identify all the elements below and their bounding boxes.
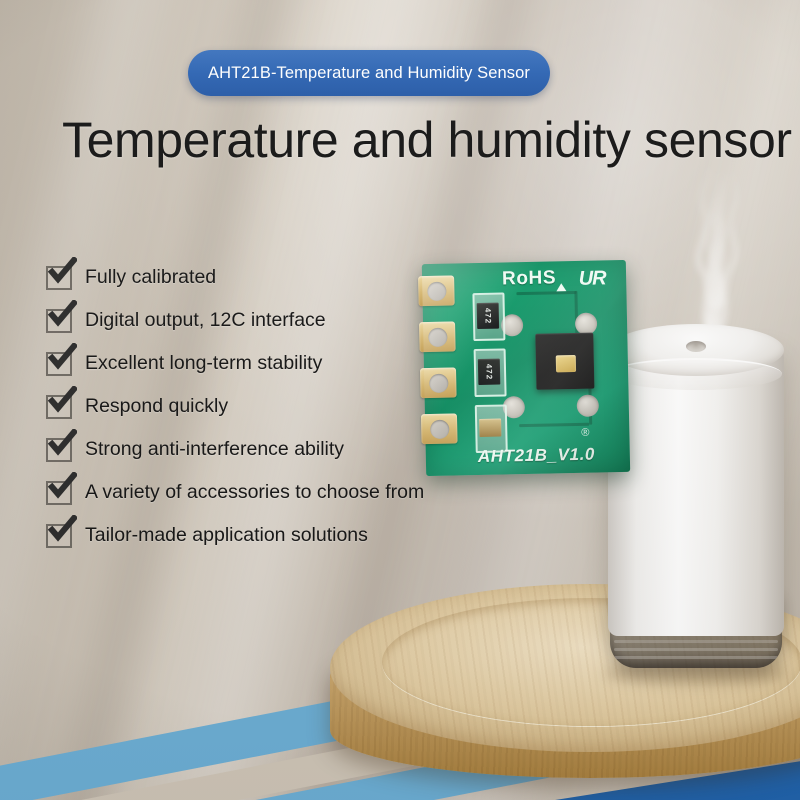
feature-list: Fully calibrated Digital output, 12C int… bbox=[46, 256, 516, 557]
humidifier-device bbox=[600, 318, 790, 680]
check-square-icon bbox=[46, 395, 72, 419]
tank-ridge bbox=[614, 656, 778, 659]
feature-label: Respond quickly bbox=[85, 395, 228, 418]
tank-ridge bbox=[614, 640, 778, 643]
product-badge-label: AHT21B-Temperature and Humidity Sensor bbox=[208, 64, 530, 83]
list-item: Tailor-made application solutions bbox=[46, 514, 516, 557]
device-rim bbox=[610, 358, 782, 390]
feature-label: Tailor-made application solutions bbox=[85, 524, 368, 547]
list-item: Strong anti-interference ability bbox=[46, 428, 516, 471]
page-title: Temperature and humidity sensor bbox=[62, 110, 762, 170]
feature-label: Strong anti-interference ability bbox=[85, 438, 344, 461]
feature-label: Excellent long-term stability bbox=[85, 352, 322, 375]
list-item: A variety of accessories to choose from bbox=[46, 471, 516, 514]
check-square-icon bbox=[46, 266, 72, 290]
check-square-icon bbox=[46, 309, 72, 333]
check-square-icon bbox=[46, 352, 72, 376]
check-square-icon bbox=[46, 481, 72, 505]
list-item: Digital output, 12C interface bbox=[46, 299, 516, 342]
tank-ridge bbox=[614, 648, 778, 651]
feature-label: Digital output, 12C interface bbox=[85, 309, 326, 332]
feature-label: A variety of accessories to choose from bbox=[85, 481, 424, 504]
check-square-icon bbox=[46, 438, 72, 462]
product-banner-image: 472 472 RoHS UR ® AHT21B_V1.0 AHT21B-Tem… bbox=[0, 0, 800, 800]
list-item: Excellent long-term stability bbox=[46, 342, 516, 385]
product-badge: AHT21B-Temperature and Humidity Sensor bbox=[188, 50, 550, 96]
list-item: Fully calibrated bbox=[46, 256, 516, 299]
mist-outlet bbox=[686, 341, 706, 352]
check-square-icon bbox=[46, 524, 72, 548]
list-item: Respond quickly bbox=[46, 385, 516, 428]
feature-label: Fully calibrated bbox=[85, 266, 216, 289]
